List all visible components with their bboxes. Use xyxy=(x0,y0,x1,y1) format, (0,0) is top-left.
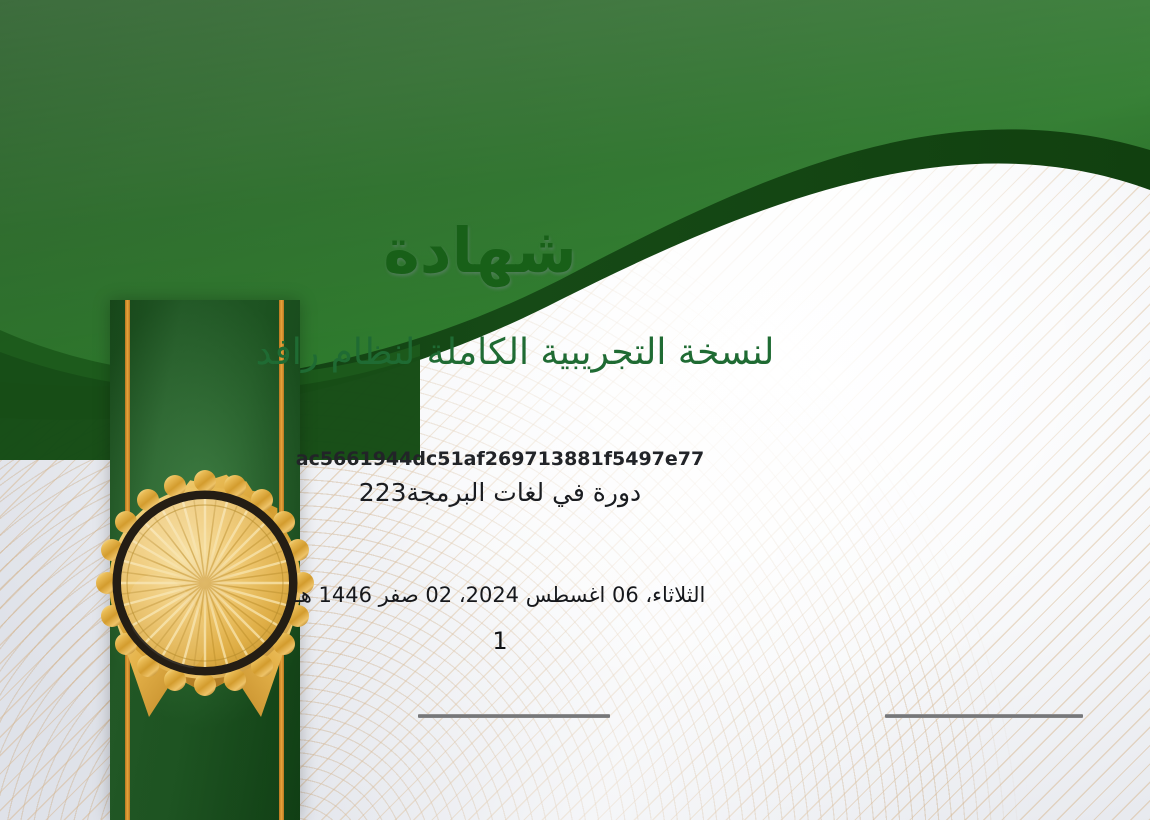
course-name: دورة في لغات البرمجة223 xyxy=(0,478,1150,507)
verification-hash: ac5661944dc51af269713881f5497e77 xyxy=(0,448,1150,470)
issue-date: الثلاثاء، 06 اغسطس 2024، 02 صفر 1446 هـ xyxy=(0,583,1150,607)
certificate-canvas: شهادة لنسخة التجريبية الكاملة لنظام رافد… xyxy=(0,0,1150,820)
certificate-title: شهادة xyxy=(0,214,1150,287)
signature-line-left xyxy=(418,714,610,718)
serial-number: 1 xyxy=(0,627,1150,655)
certificate-subtitle: لنسخة التجريبية الكاملة لنظام رافد xyxy=(0,332,1150,373)
signature-line-right xyxy=(885,714,1083,718)
